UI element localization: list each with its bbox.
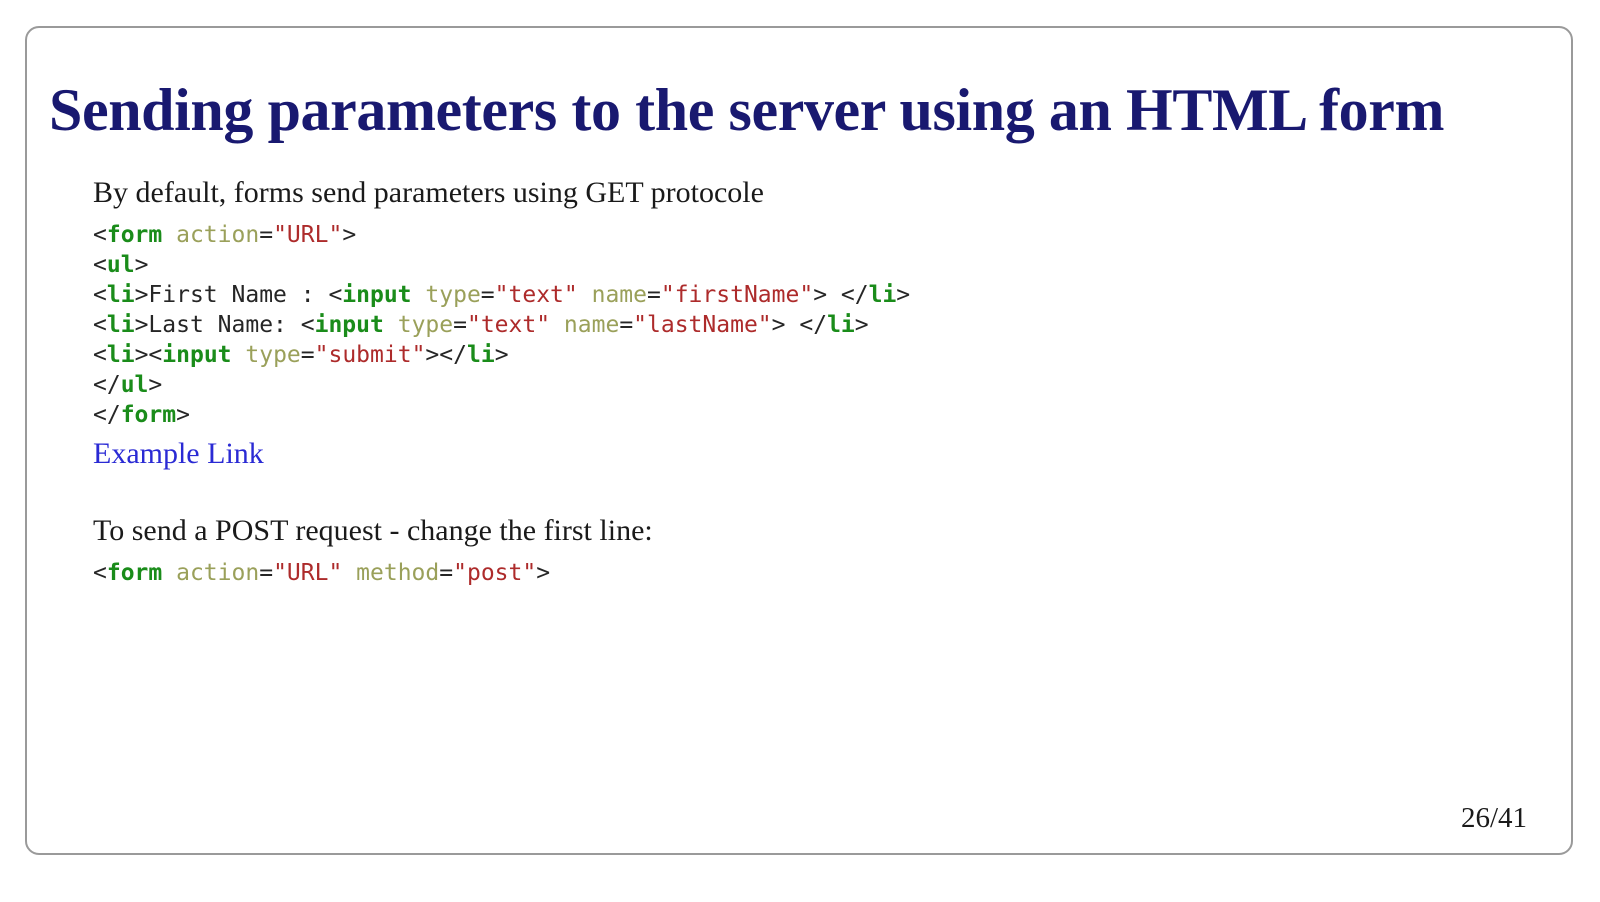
code-token-text <box>162 560 176 586</box>
code-token-punc: > <box>896 282 910 308</box>
code-token-punc: > <box>425 342 439 368</box>
slide-content: By default, forms send parameters using … <box>93 178 1523 588</box>
code-token-text <box>162 222 176 248</box>
code-token-tag: input <box>342 282 411 308</box>
code-token-punc: </ <box>799 312 827 338</box>
page-title: Sending parameters to the server using a… <box>49 86 1449 135</box>
code-token-tag: li <box>869 282 897 308</box>
code-token-tag: input <box>315 312 384 338</box>
code-token-tag: li <box>827 312 855 338</box>
code-token-eq: = <box>259 560 273 586</box>
code-token-punc: > <box>148 372 162 398</box>
code-token-attr: action <box>176 222 259 248</box>
code-token-punc: </ <box>93 402 121 428</box>
code-token-attr: method <box>356 560 439 586</box>
code-token-tag: form <box>121 402 176 428</box>
code-token-punc: > <box>176 402 190 428</box>
code-token-str: "URL" <box>273 560 342 586</box>
code-token-text: First Name : <box>148 282 328 308</box>
intro-paragraph: By default, forms send parameters using … <box>93 178 1523 208</box>
code-token-punc: </ <box>93 372 121 398</box>
code-token-punc: < <box>93 222 107 248</box>
code-line: <form action="URL" method="post"> <box>93 558 1523 588</box>
code-token-punc: </ <box>841 282 869 308</box>
code-token-punc: < <box>93 252 107 278</box>
code-token-tag: li <box>467 342 495 368</box>
code-token-text <box>384 312 398 338</box>
code-token-tag: ul <box>121 372 149 398</box>
code-block-post-form: <form action="URL" method="post"> <box>93 558 1523 588</box>
code-token-text <box>550 312 564 338</box>
code-token-eq: = <box>259 222 273 248</box>
code-token-attr: action <box>176 560 259 586</box>
code-token-tag: ul <box>107 252 135 278</box>
code-token-attr: type <box>398 312 453 338</box>
code-token-eq: = <box>619 312 633 338</box>
code-token-str: "submit" <box>315 342 426 368</box>
code-token-punc: < <box>93 312 107 338</box>
code-token-punc: > <box>135 342 149 368</box>
code-token-punc: > <box>135 282 149 308</box>
code-line: <li>First Name : <input type="text" name… <box>93 280 1523 310</box>
code-token-punc: < <box>328 282 342 308</box>
code-line: <form action="URL"> <box>93 220 1523 250</box>
code-token-str: "post" <box>453 560 536 586</box>
code-token-tag: li <box>107 282 135 308</box>
example-link[interactable]: Example Link <box>93 438 264 470</box>
code-token-eq: = <box>301 342 315 368</box>
code-token-str: "text" <box>495 282 578 308</box>
page-number: 26/41 <box>1461 802 1527 835</box>
code-token-text <box>578 282 592 308</box>
code-token-text <box>342 560 356 586</box>
code-token-punc: < <box>93 560 107 586</box>
code-token-tag: li <box>107 312 135 338</box>
code-token-eq: = <box>647 282 661 308</box>
code-token-attr: type <box>425 282 480 308</box>
code-token-text <box>412 282 426 308</box>
code-token-punc: < <box>148 342 162 368</box>
code-token-attr: type <box>245 342 300 368</box>
code-line: </form> <box>93 400 1523 430</box>
code-token-punc: > <box>772 312 800 338</box>
code-token-punc: > <box>495 342 509 368</box>
code-line: </ul> <box>93 370 1523 400</box>
code-token-str: "URL" <box>273 222 342 248</box>
code-token-text <box>232 342 246 368</box>
code-token-text: Last Name: <box>148 312 300 338</box>
code-block-get-form: <form action="URL"><ul><li>First Name : … <box>93 220 1523 430</box>
code-token-punc: < <box>93 342 107 368</box>
code-token-tag: form <box>107 222 162 248</box>
code-token-eq: = <box>481 282 495 308</box>
code-token-punc: > <box>536 560 550 586</box>
code-token-punc: > <box>813 282 841 308</box>
code-token-attr: name <box>564 312 619 338</box>
code-token-eq: = <box>453 312 467 338</box>
code-token-punc: < <box>301 312 315 338</box>
code-token-punc: > <box>135 312 149 338</box>
post-paragraph: To send a POST request - change the firs… <box>93 516 1523 546</box>
spacer <box>93 470 1523 516</box>
code-token-attr: name <box>592 282 647 308</box>
code-token-punc: > <box>342 222 356 248</box>
code-token-punc: > <box>135 252 149 278</box>
code-token-str: "text" <box>467 312 550 338</box>
code-token-tag: li <box>107 342 135 368</box>
code-line: <li><input type="submit"></li> <box>93 340 1523 370</box>
code-token-tag: input <box>162 342 231 368</box>
code-token-eq: = <box>439 560 453 586</box>
code-line: <ul> <box>93 250 1523 280</box>
code-token-punc: > <box>855 312 869 338</box>
code-token-str: "firstName" <box>661 282 813 308</box>
code-token-str: "lastName" <box>633 312 771 338</box>
code-token-punc: < <box>93 282 107 308</box>
code-line: <li>Last Name: <input type="text" name="… <box>93 310 1523 340</box>
code-token-tag: form <box>107 560 162 586</box>
code-token-punc: </ <box>439 342 467 368</box>
slide-frame: Sending parameters to the server using a… <box>25 26 1573 855</box>
